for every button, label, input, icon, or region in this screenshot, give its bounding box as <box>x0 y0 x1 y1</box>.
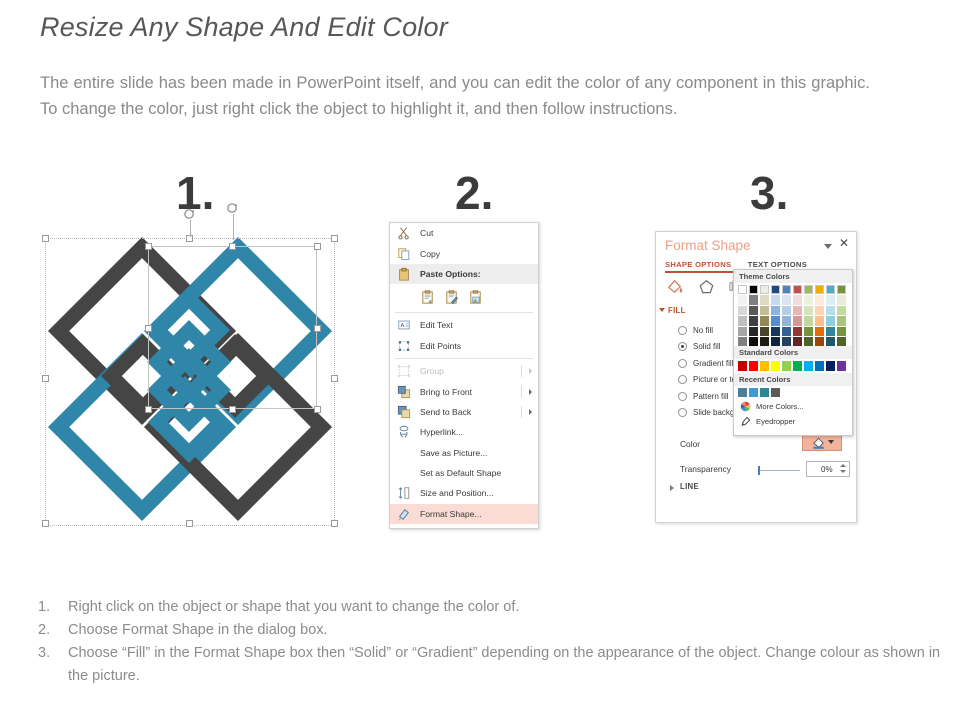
menu-item-label: Format Shape... <box>420 509 482 519</box>
color-swatch[interactable] <box>760 316 769 325</box>
expander-down-icon[interactable] <box>659 308 665 312</box>
instructions-list: 1. Right click on the object or shape th… <box>38 596 948 688</box>
fill-section-header[interactable]: FILL <box>668 306 686 315</box>
chevron-right-icon <box>529 409 532 415</box>
menu-item-label: Edit Text <box>420 320 453 330</box>
standard-colors-row[interactable] <box>734 359 852 372</box>
list-item-number: 2. <box>38 619 68 642</box>
menu-submenu-divider <box>521 365 522 377</box>
format-shape-icon <box>397 507 411 521</box>
menu-item-send-to-back[interactable]: Send to Back <box>390 402 538 422</box>
color-swatch[interactable] <box>749 285 758 294</box>
svg-text:A: A <box>401 324 405 330</box>
edit-text-icon: A <box>397 318 411 332</box>
menu-item-size-and-position[interactable]: Size and Position... <box>390 483 538 503</box>
list-item: 2. Choose Format Shape in the dialog box… <box>38 619 948 642</box>
selection-handle-inner-ml[interactable] <box>145 325 152 332</box>
color-swatch[interactable] <box>771 306 780 315</box>
more-colors-item[interactable]: More Colors... <box>734 399 852 414</box>
inner-selection-frame <box>148 246 317 409</box>
color-swatch[interactable] <box>815 316 824 325</box>
more-colors-label: More Colors... <box>756 402 804 411</box>
shape-illustration-panel <box>45 232 337 530</box>
edit-points-icon <box>397 339 411 353</box>
page-title: Resize Any Shape And Edit Color <box>40 12 448 43</box>
color-swatch[interactable] <box>782 306 791 315</box>
chevron-right-icon <box>529 368 532 374</box>
selection-handle-inner-mr[interactable] <box>314 325 321 332</box>
color-swatch[interactable] <box>804 327 813 336</box>
spinner-down-icon[interactable] <box>840 470 846 473</box>
color-swatch[interactable] <box>815 361 824 370</box>
color-swatch[interactable] <box>804 316 813 325</box>
color-swatch[interactable] <box>771 327 780 336</box>
format-shape-tabs: SHAPE OPTIONS TEXT OPTIONS <box>665 260 807 269</box>
group-icon <box>397 364 411 378</box>
selection-handle-outer-bc[interactable] <box>186 520 193 527</box>
color-swatch[interactable] <box>826 306 835 315</box>
selection-handle-outer-br[interactable] <box>331 520 338 527</box>
color-swatch[interactable] <box>793 306 802 315</box>
slide-canvas: Resize Any Shape And Edit Color The enti… <box>0 0 960 720</box>
color-swatch[interactable] <box>804 361 813 370</box>
transparency-value-field[interactable]: 0% <box>806 461 850 477</box>
color-swatch[interactable] <box>826 327 835 336</box>
color-swatch[interactable] <box>760 306 769 315</box>
fill-bucket-icon[interactable] <box>666 277 685 296</box>
send-to-back-icon <box>397 405 411 419</box>
paste-keep-formatting-icon[interactable]: a <box>420 290 435 305</box>
selection-handle-inner-bl[interactable] <box>145 406 152 413</box>
color-swatch[interactable] <box>837 361 846 370</box>
color-swatch[interactable] <box>826 361 835 370</box>
color-swatch[interactable] <box>782 316 791 325</box>
color-swatch[interactable] <box>815 295 824 304</box>
hyperlink-icon <box>397 425 411 439</box>
color-swatch[interactable] <box>749 337 758 346</box>
color-swatch[interactable] <box>749 361 758 370</box>
list-item: 1. Right click on the object or shape th… <box>38 596 948 619</box>
selection-handle-inner-tr[interactable] <box>314 243 321 250</box>
selection-handle-inner-bc[interactable] <box>229 406 236 413</box>
menu-item-label: Group <box>420 366 444 376</box>
color-swatch[interactable] <box>760 327 769 336</box>
theme-colors-row[interactable] <box>734 306 852 315</box>
color-swatch[interactable] <box>771 388 780 397</box>
color-swatch[interactable] <box>815 327 824 336</box>
theme-colors-row[interactable] <box>734 327 852 336</box>
spinner-up-icon[interactable] <box>840 464 846 467</box>
color-swatch[interactable] <box>793 316 802 325</box>
radio-no-fill[interactable] <box>678 326 687 335</box>
color-swatch[interactable] <box>826 337 835 346</box>
fill-option-label: Gradient fill <box>693 359 733 368</box>
color-swatch[interactable] <box>815 306 824 315</box>
more-colors-icon <box>740 401 751 412</box>
theme-colors-header: Theme Colors <box>734 270 852 283</box>
menu-item-save-as-picture[interactable]: Save as Picture... <box>390 443 538 463</box>
selection-handle-outer-bl[interactable] <box>42 520 49 527</box>
color-swatch[interactable] <box>782 295 791 304</box>
color-swatch[interactable] <box>815 337 824 346</box>
page-subtitle: The entire slide has been made in PowerP… <box>40 70 870 122</box>
color-swatch[interactable] <box>749 306 758 315</box>
menu-item-group: Group <box>390 361 538 381</box>
color-swatch[interactable] <box>826 316 835 325</box>
radio-picture-fill[interactable] <box>678 375 687 384</box>
color-swatch[interactable] <box>738 316 747 325</box>
color-swatch[interactable] <box>782 285 791 294</box>
recent-colors-header: Recent Colors <box>734 373 852 386</box>
menu-item-label: Bring to Front <box>420 387 472 397</box>
list-item: 3. Choose “Fill” in the Format Shape box… <box>38 642 948 688</box>
menu-item-label: Set as Default Shape <box>420 468 501 478</box>
color-swatch[interactable] <box>738 306 747 315</box>
list-item-number: 3. <box>38 642 68 665</box>
chevron-down-icon[interactable] <box>828 440 834 444</box>
tab-active-underline <box>665 271 739 273</box>
color-swatch[interactable] <box>738 295 747 304</box>
color-swatch[interactable] <box>738 327 747 336</box>
color-label: Color <box>680 439 700 449</box>
rotate-handle-icon-outer[interactable] <box>183 208 195 220</box>
selection-handle-inner-tc[interactable] <box>229 243 236 250</box>
color-swatch[interactable] <box>793 327 802 336</box>
eyedropper-icon <box>740 416 751 427</box>
fill-option-label: No fill <box>693 326 713 335</box>
menu-item-label: Edit Points <box>420 341 461 351</box>
color-swatch[interactable] <box>782 337 791 346</box>
selection-handle-inner-tl[interactable] <box>145 243 152 250</box>
color-swatch[interactable] <box>837 306 846 315</box>
menu-item-paste-options[interactable]: Paste Options: <box>390 264 538 284</box>
color-swatch[interactable] <box>760 337 769 346</box>
scissors-icon <box>397 226 411 240</box>
menu-item-copy[interactable]: Copy <box>390 243 538 263</box>
paste-merge-formatting-icon[interactable] <box>444 290 459 305</box>
radio-solid-fill[interactable] <box>678 342 687 351</box>
format-shape-title: Format Shape <box>665 238 751 253</box>
color-swatch[interactable] <box>837 285 846 294</box>
color-swatch[interactable] <box>815 285 824 294</box>
menu-item-format-shape[interactable]: Format Shape... <box>390 504 538 524</box>
color-swatch[interactable] <box>793 337 802 346</box>
menu-separator <box>395 312 533 313</box>
bring-to-front-icon <box>397 385 411 399</box>
theme-colors-grid[interactable] <box>734 283 852 346</box>
color-swatch[interactable] <box>760 361 769 370</box>
transparency-value: 0% <box>821 465 833 474</box>
transparency-slider[interactable] <box>760 470 800 471</box>
paste-picture-icon[interactable] <box>468 290 483 305</box>
rotate-handle-icon-inner[interactable] <box>226 202 238 214</box>
color-swatch[interactable] <box>738 337 747 346</box>
paste-options-row[interactable]: a <box>390 284 538 310</box>
color-swatch[interactable] <box>793 361 802 370</box>
color-swatch[interactable] <box>749 327 758 336</box>
fill-color-icon <box>811 435 826 450</box>
menu-item-label: Hyperlink... <box>420 427 463 437</box>
selection-handle-outer-ml[interactable] <box>42 375 49 382</box>
color-swatch[interactable] <box>771 361 780 370</box>
theme-colors-row[interactable] <box>734 285 852 294</box>
expander-right-icon[interactable] <box>670 485 674 491</box>
menu-submenu-divider <box>521 385 522 397</box>
pentagon-effects-icon[interactable] <box>697 277 716 296</box>
color-dropdown[interactable]: Theme Colors Standard Colors Recent Colo… <box>733 269 853 436</box>
radio-slide-background-fill[interactable] <box>678 408 687 417</box>
clipboard-icon <box>397 267 411 281</box>
chevron-right-icon <box>529 389 532 395</box>
eyedropper-item[interactable]: Eyedropper <box>734 414 852 429</box>
context-menu[interactable]: Cut Copy Paste Options: a <box>389 222 539 529</box>
tab-text-options[interactable]: TEXT OPTIONS <box>748 260 807 269</box>
menu-item-cut[interactable]: Cut <box>390 223 538 243</box>
color-swatch[interactable] <box>804 295 813 304</box>
list-item-text: Choose “Fill” in the Format Shape box th… <box>68 642 948 688</box>
color-swatch[interactable] <box>826 295 835 304</box>
color-swatch[interactable] <box>826 285 835 294</box>
list-item-text: Right click on the object or shape that … <box>68 596 948 619</box>
color-swatch[interactable] <box>738 388 747 397</box>
radio-gradient-fill[interactable] <box>678 359 687 368</box>
menu-item-bring-to-front[interactable]: Bring to Front <box>390 381 538 401</box>
size-position-icon <box>397 486 411 500</box>
radio-pattern-fill[interactable] <box>678 392 687 401</box>
color-swatch[interactable] <box>837 316 846 325</box>
list-item-text: Choose Format Shape in the dialog box. <box>68 619 948 642</box>
color-swatch[interactable] <box>804 285 813 294</box>
color-swatch[interactable] <box>760 295 769 304</box>
color-swatch[interactable] <box>749 388 758 397</box>
menu-separator <box>395 358 533 359</box>
menu-item-hyperlink[interactable]: Hyperlink... <box>390 422 538 442</box>
recent-colors-row[interactable] <box>734 386 852 399</box>
menu-item-edit-points[interactable]: Edit Points <box>390 336 538 356</box>
theme-colors-row[interactable] <box>734 337 852 346</box>
selection-handle-outer-mr[interactable] <box>331 375 338 382</box>
color-swatch[interactable] <box>793 295 802 304</box>
color-swatch[interactable] <box>837 327 846 336</box>
menu-submenu-divider <box>521 406 522 418</box>
color-swatch[interactable] <box>738 285 747 294</box>
menu-item-label: Size and Position... <box>420 488 494 498</box>
rotation-stem-outer <box>190 220 191 237</box>
theme-colors-row[interactable] <box>734 316 852 325</box>
line-section-header[interactable]: LINE <box>680 482 699 491</box>
menu-item-label: Paste Options: <box>420 269 481 279</box>
theme-colors-row[interactable] <box>734 295 852 304</box>
color-swatch[interactable] <box>804 306 813 315</box>
standard-colors-header: Standard Colors <box>734 346 852 359</box>
step-number-3: 3. <box>750 170 788 216</box>
color-swatch[interactable] <box>749 316 758 325</box>
menu-item-label: Copy <box>420 249 440 259</box>
close-icon[interactable]: ✕ <box>839 237 849 249</box>
color-swatch[interactable] <box>782 327 791 336</box>
color-swatch[interactable] <box>771 337 780 346</box>
menu-item-edit-text[interactable]: A Edit Text <box>390 315 538 335</box>
step-number-1: 1. <box>176 170 214 216</box>
spinner-arrows[interactable] <box>840 464 846 473</box>
color-swatch[interactable] <box>837 295 846 304</box>
color-swatch[interactable] <box>771 285 780 294</box>
chevron-down-icon[interactable] <box>824 244 832 249</box>
color-swatch[interactable] <box>837 337 846 346</box>
copy-icon <box>397 247 411 261</box>
selection-handle-inner-br[interactable] <box>314 406 321 413</box>
color-swatch[interactable] <box>793 285 802 294</box>
fill-option-label: Solid fill <box>693 342 721 351</box>
color-swatch[interactable] <box>738 361 747 370</box>
fill-option-label: Pattern fill <box>693 392 729 401</box>
menu-item-label: Save as Picture... <box>420 448 487 458</box>
color-swatch[interactable] <box>771 295 780 304</box>
menu-item-label: Send to Back <box>420 407 471 417</box>
color-swatch[interactable] <box>804 337 813 346</box>
color-swatch[interactable] <box>749 295 758 304</box>
color-swatch[interactable] <box>760 388 769 397</box>
list-item-number: 1. <box>38 596 68 619</box>
step-number-2: 2. <box>455 170 493 216</box>
color-swatch[interactable] <box>782 361 791 370</box>
selection-handle-outer-tl[interactable] <box>42 235 49 242</box>
transparency-label: Transparency <box>680 464 731 474</box>
eyedropper-label: Eyedropper <box>756 417 795 426</box>
menu-item-label: Cut <box>420 228 433 238</box>
color-swatch[interactable] <box>760 285 769 294</box>
tab-shape-options[interactable]: SHAPE OPTIONS <box>665 260 731 269</box>
menu-item-set-as-default-shape[interactable]: Set as Default Shape <box>390 463 538 483</box>
selection-handle-outer-tr[interactable] <box>331 235 338 242</box>
rotation-stem-inner <box>233 214 234 240</box>
color-swatch[interactable] <box>771 316 780 325</box>
